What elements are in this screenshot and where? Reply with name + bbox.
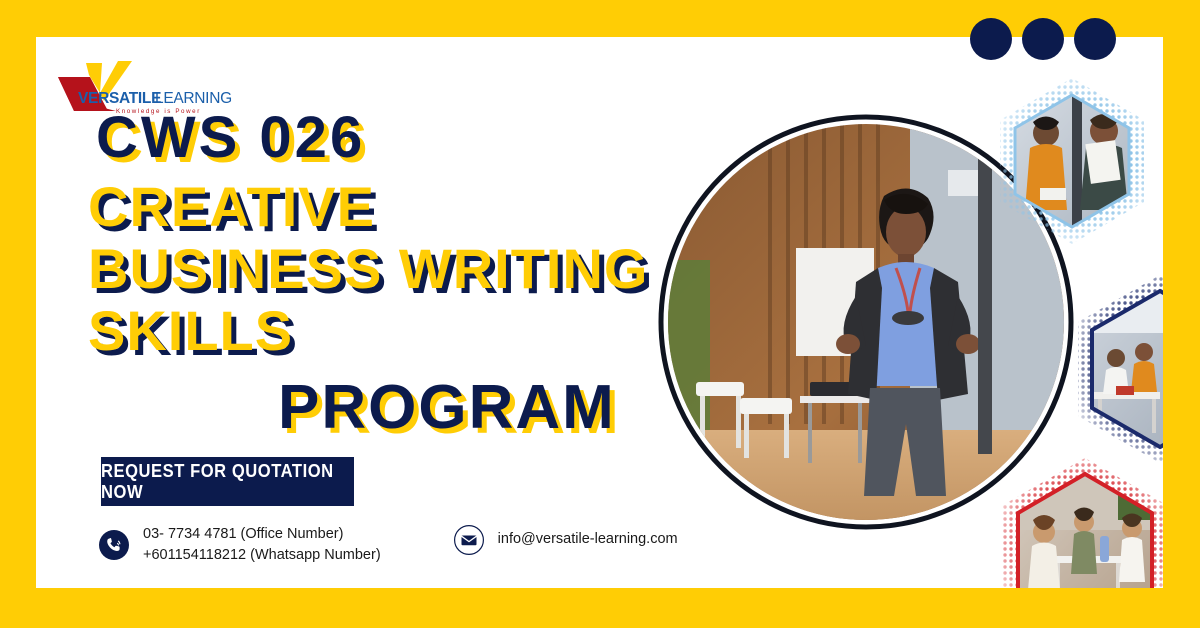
headline-block: CWS 026 CREATIVE BUSINESS WRITING SKILLS…	[88, 109, 728, 439]
hex-photo-c	[1014, 468, 1159, 588]
envelope-icon	[453, 524, 485, 556]
phone-numbers: 03- 7734 4781 (Office Number) +601154118…	[143, 524, 381, 566]
promo-banner: VERSATILE LEARNING Knowledge is Power CW…	[0, 0, 1200, 628]
office-number: 03- 7734 4781 (Office Number)	[143, 524, 381, 545]
decorative-dot-3	[1074, 18, 1116, 60]
contact-row: 03- 7734 4781 (Office Number) +601154118…	[98, 524, 678, 566]
contact-email[interactable]: info@versatile-learning.com	[453, 524, 678, 556]
decorative-dot-2	[1022, 18, 1064, 60]
decorative-dot-1	[970, 18, 1012, 60]
course-code: CWS 026	[96, 109, 728, 167]
headline-line-2: BUSINESS WRITING	[88, 241, 728, 297]
contact-phone[interactable]: 03- 7734 4781 (Office Number) +601154118…	[98, 524, 381, 566]
whatsapp-number: +601154118212 (Whatsapp Number)	[143, 545, 381, 566]
phone-icon	[98, 529, 130, 561]
decorative-dots	[960, 18, 1105, 63]
white-content-card: VERSATILE LEARNING Knowledge is Power CW…	[36, 37, 1163, 588]
headline-line-3: SKILLS	[88, 303, 728, 359]
request-quotation-button[interactable]: REQUEST FOR QUOTATION NOW	[101, 457, 354, 506]
headline-line-1: CREATIVE	[88, 179, 728, 235]
photo-collage	[648, 37, 1163, 588]
